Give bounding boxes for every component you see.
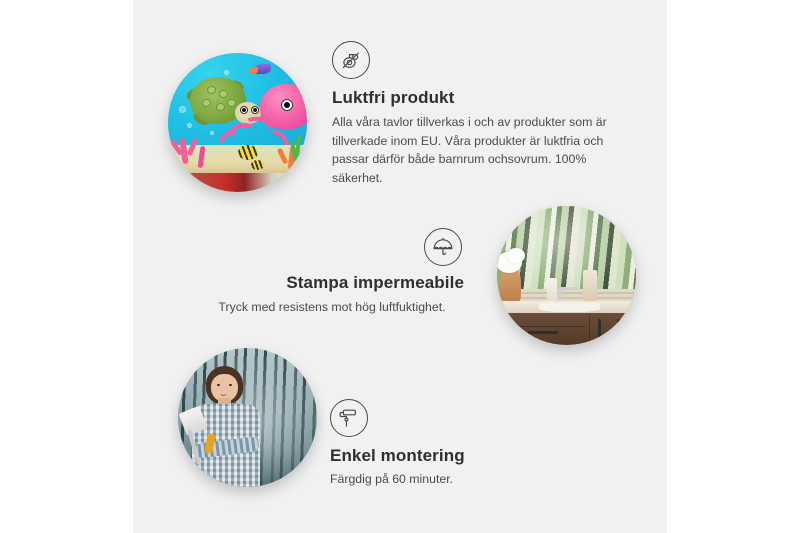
bubble — [210, 131, 214, 135]
umbrella-icon — [424, 228, 462, 266]
tall-bottle — [583, 270, 597, 301]
feature-description: Färgdig på 60 minuter. — [330, 470, 590, 489]
feature-title: Stampa impermeabile — [196, 273, 468, 293]
flower-bouquet — [507, 248, 525, 263]
ocean-scene — [168, 53, 307, 192]
woman-forest-scene — [178, 348, 317, 487]
vanity-cabinet — [500, 313, 636, 345]
mural-lower-frame — [168, 173, 307, 192]
fish-yellow — [238, 145, 258, 160]
sink-basin — [539, 303, 600, 311]
photo-disc-ocean — [168, 53, 307, 192]
no-odour-spray-bottle-icon — [332, 41, 370, 79]
feature-easy-mounting: Enkel montering Färgdig på 60 minuter. — [330, 399, 590, 489]
fish-fin — [250, 67, 258, 74]
cabinet-seam — [589, 314, 590, 345]
feature-title: Enkel montering — [330, 446, 590, 466]
bathroom-scene — [497, 206, 636, 345]
photo-disc-woman-roller — [178, 348, 317, 487]
drawer-seam — [503, 326, 586, 327]
faucet-spout — [558, 287, 577, 290]
drawer-handle — [528, 331, 559, 334]
paint-roller-icon — [330, 399, 368, 437]
bubble — [179, 106, 186, 113]
octopus-eye — [281, 99, 293, 111]
feature-description: Alla våra tavlor tillverkas i och av pro… — [332, 113, 632, 188]
feature-waterproof: Stampa impermeabile Tryck med resistens … — [196, 228, 468, 317]
bubble — [224, 70, 229, 75]
feature-odourless: Luktfri produkt Alla våra tavlor tillver… — [332, 41, 632, 188]
photo-disc-bathroom — [497, 206, 636, 345]
cabinet-handle — [617, 319, 620, 338]
icon-row — [196, 228, 468, 266]
dispenser-bottle — [547, 278, 557, 300]
product-feature-banner: Luktfri produkt Alla våra tavlor tillver… — [0, 0, 800, 533]
feature-title: Luktfri produkt — [332, 88, 632, 108]
feature-description: Tryck med resistens mot hög luftfuktighe… — [196, 298, 468, 317]
